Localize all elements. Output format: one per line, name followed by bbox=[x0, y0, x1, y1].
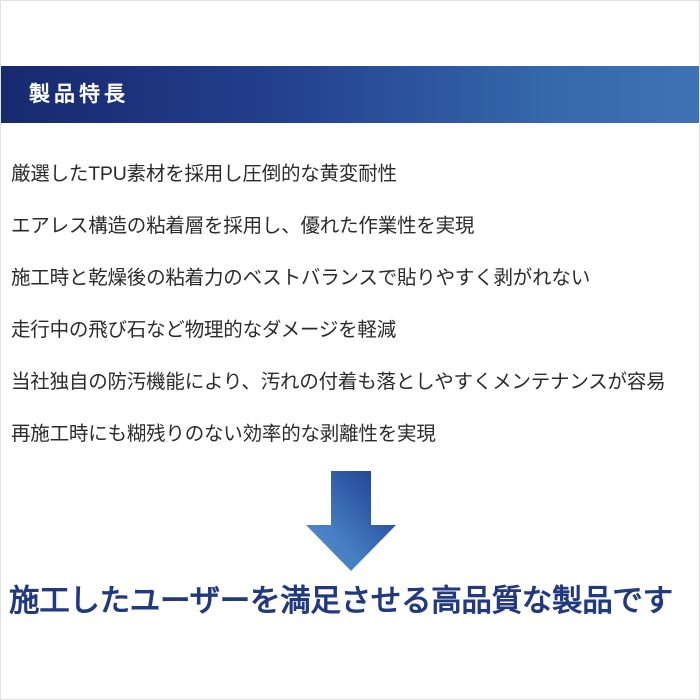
feature-item: 施工時と乾燥後の粘着力のベストバランスで貼りやすく剥がれない bbox=[11, 253, 700, 305]
feature-item: 当社独自の防汚機能により、汚れの付着も落としやすくメンテナンスが容易 bbox=[11, 357, 700, 409]
feature-list: 厳選したTPU素材を採用し圧倒的な黄変耐性 エアレス構造の粘着層を採用し、優れた… bbox=[11, 149, 700, 461]
feature-item: 厳選したTPU素材を採用し圧倒的な黄変耐性 bbox=[11, 149, 700, 201]
product-features-page: 製品特長 厳選したTPU素材を採用し圧倒的な黄変耐性 エアレス構造の粘着層を採用… bbox=[0, 0, 700, 700]
feature-item: エアレス構造の粘着層を採用し、優れた作業性を実現 bbox=[11, 201, 700, 253]
page-title: 製品特長 bbox=[29, 84, 129, 105]
footer-headline: 施工したユーザーを満足させる高品質な製品です bbox=[9, 583, 699, 620]
feature-item: 再施工時にも糊残りのない効率的な剥離性を実現 bbox=[11, 409, 700, 461]
section-header-bar: 製品特長 bbox=[1, 66, 700, 123]
feature-item: 走行中の飛び石など物理的なダメージを軽減 bbox=[11, 305, 700, 357]
arrow-down-icon bbox=[304, 469, 398, 573]
